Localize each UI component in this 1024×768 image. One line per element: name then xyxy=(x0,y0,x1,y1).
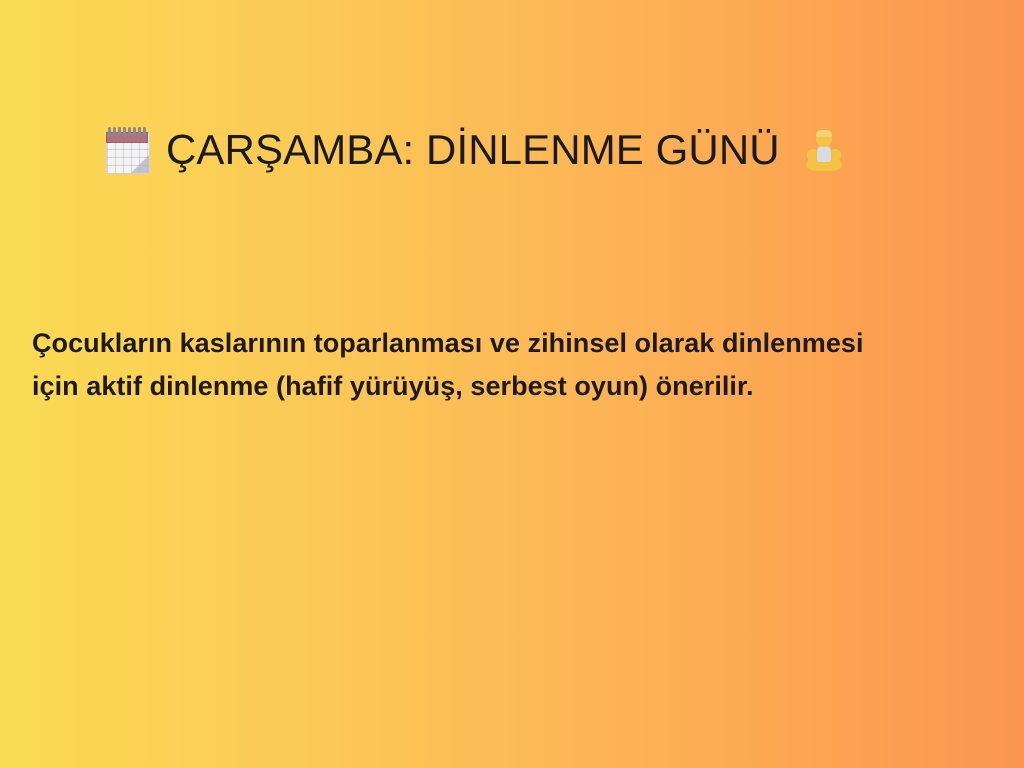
lotus-hair xyxy=(816,130,832,137)
slide-body-text: Çocukların kaslarının toparlanması ve zi… xyxy=(32,322,1000,408)
body-line: Çocukların kaslarının toparlanması ve zi… xyxy=(32,322,1000,365)
notepad-icon xyxy=(104,126,150,174)
notepad-spiral-rings xyxy=(108,127,146,136)
page-title: ÇARŞAMBA: DİNLENME GÜNÜ xyxy=(166,126,780,174)
presentation-slide: ÇARŞAMBA: DİNLENME GÜNÜ Çocukların kasla… xyxy=(0,0,1024,768)
person-in-lotus-position-emoji xyxy=(802,127,846,173)
body-line: için aktif dinlenme (hafif yürüyüş, serb… xyxy=(32,365,1000,408)
notepad-emoji xyxy=(104,126,150,174)
lotus-torso xyxy=(817,146,831,162)
lotus-icon xyxy=(802,129,846,173)
notepad-page-curl xyxy=(131,155,149,173)
slide-title: ÇARŞAMBA: DİNLENME GÜNÜ xyxy=(104,126,846,174)
